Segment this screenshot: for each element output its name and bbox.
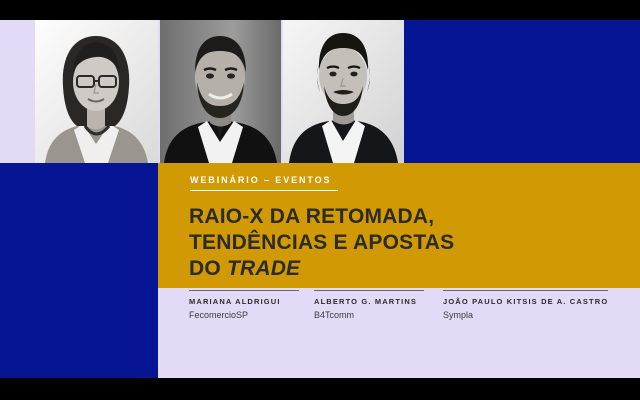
speaker-photo-2 (160, 20, 281, 163)
speaker-name: ALBERTO G. MARTINS (314, 296, 424, 307)
speaker-credit-1: MARIANA ALDRIGUI FecomercioSP (189, 290, 299, 322)
blue-block-bottom-left (0, 163, 158, 378)
slide-title: RAIO-X DA RETOMADA, TENDÊNCIAS E APOSTAS… (189, 204, 619, 282)
slide-canvas: WEBINÁRIO – EVENTOS RAIO-X DA RETOMADA, … (0, 0, 640, 400)
title-line-1: RAIO-X DA RETOMADA, (189, 204, 619, 230)
speaker-divider-rule (443, 290, 608, 291)
speaker-credits: MARIANA ALDRIGUI FecomercioSP ALBERTO G.… (189, 290, 629, 330)
speaker-divider-rule (314, 290, 424, 291)
portrait-illustration-1 (35, 20, 158, 163)
speaker-organization: FecomercioSP (189, 309, 299, 322)
portrait-illustration-3 (283, 20, 404, 163)
speaker-organization: B4Tcomm (314, 309, 424, 322)
speaker-photo-3 (283, 20, 404, 163)
eyebrow-underline (190, 190, 338, 191)
eyebrow-label: WEBINÁRIO – EVENTOS (190, 174, 338, 186)
eyebrow-group: WEBINÁRIO – EVENTOS (190, 174, 338, 191)
speaker-organization: Sympla (443, 309, 608, 322)
speaker-name: MARIANA ALDRIGUI (189, 296, 299, 307)
title-line-3: DO TRADE (189, 256, 619, 282)
letterbox-bar-bottom (0, 378, 640, 400)
speaker-photo-1 (35, 20, 158, 163)
title-line-3-prefix: DO (189, 257, 227, 280)
speaker-credit-3: JOÃO PAULO KITSIS DE A. CASTRO Sympla (443, 290, 608, 322)
speaker-credit-2: ALBERTO G. MARTINS B4Tcomm (314, 290, 424, 322)
speaker-name: JOÃO PAULO KITSIS DE A. CASTRO (443, 296, 608, 307)
speaker-divider-rule (189, 290, 299, 291)
portrait-illustration-2 (160, 20, 281, 163)
title-line-3-emphasis: TRADE (227, 257, 300, 280)
blue-block-top-right (404, 20, 640, 163)
title-line-2: TENDÊNCIAS E APOSTAS (189, 230, 619, 256)
letterbox-bar-top (0, 0, 640, 20)
